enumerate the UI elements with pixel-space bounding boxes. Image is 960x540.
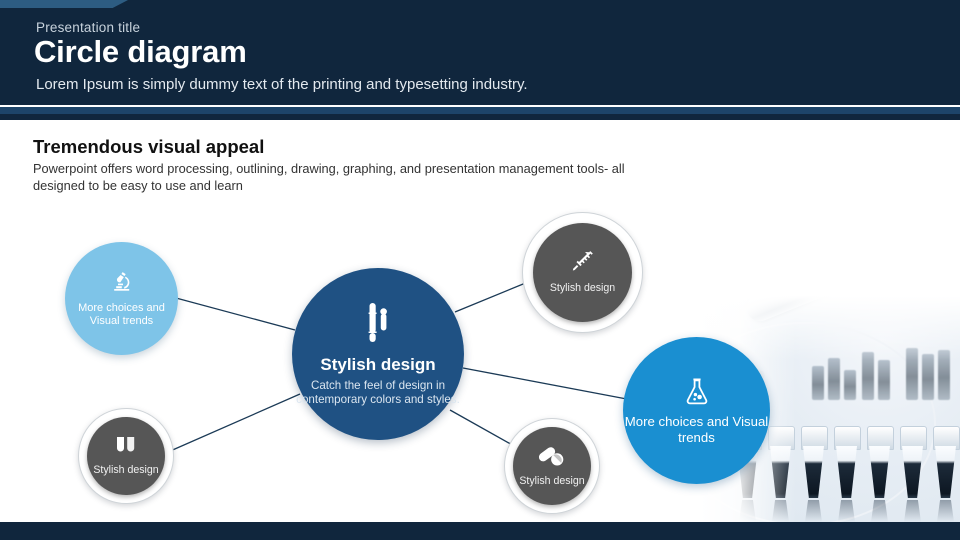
slide-canvas: Presentation title Circle diagram Lorem … — [0, 0, 960, 540]
connector-center-to-bottom-middle — [450, 410, 516, 447]
slide-footer — [0, 522, 960, 540]
node-bottom-middle-pills[interactable]: Stylish design — [513, 427, 591, 505]
node-label: Stylish design — [93, 464, 158, 477]
node-label: More choices and Visual trends — [623, 414, 770, 445]
node-label: Stylish design — [519, 475, 584, 488]
test-tubes-icon — [363, 302, 393, 349]
node-left-microscope[interactable]: More choices and Visual trends — [65, 242, 178, 355]
connector-center-to-right — [463, 368, 632, 400]
connector-center-to-left — [176, 298, 295, 330]
microscope-icon — [109, 270, 135, 299]
syringe-icon — [570, 250, 596, 279]
node-center-label: Catch the feel of design in contemporary… — [292, 379, 464, 406]
node-bottom-left-tubes[interactable]: Stylish design — [87, 417, 165, 495]
test-tube-rack-icon — [114, 436, 138, 461]
node-center-stylish-design[interactable]: Stylish design Catch the feel of design … — [292, 268, 464, 440]
node-label: More choices and Visual trends — [65, 302, 178, 328]
node-label: Stylish design — [550, 282, 615, 295]
pills-icon — [539, 445, 565, 472]
node-center-heading: Stylish design — [320, 355, 435, 375]
connector-center-to-top-right — [455, 282, 528, 312]
node-top-right-syringe[interactable]: Stylish design — [533, 223, 632, 322]
flask-icon — [682, 376, 712, 411]
node-right-flask[interactable]: More choices and Visual trends — [623, 337, 770, 484]
connector-center-to-bottom-left — [168, 394, 300, 452]
